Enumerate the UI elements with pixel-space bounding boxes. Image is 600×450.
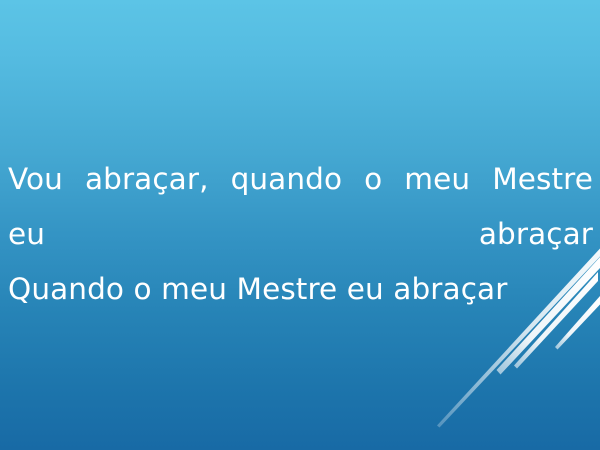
lyric-line-2: eu abraçar — [8, 207, 593, 262]
lyric-word: eu — [8, 207, 45, 262]
lyric-word: Vou — [8, 152, 63, 207]
lyric-word: abraçar, — [85, 152, 209, 207]
lyric-slide: Vou abraçar, quando o meu Mestre eu abra… — [0, 0, 600, 450]
lyric-word: Mestre — [492, 152, 593, 207]
lyric-word: quando — [231, 152, 343, 207]
lyric-word: abraçar — [479, 207, 593, 262]
lyric-word: o — [364, 152, 382, 207]
lyric-word: meu — [404, 152, 470, 207]
lyric-line-1: Vou abraçar, quando o meu Mestre — [8, 152, 593, 207]
lyrics-block: Vou abraçar, quando o meu Mestre eu abra… — [0, 152, 600, 317]
lyric-line-3: Quando o meu Mestre eu abraçar — [8, 262, 593, 317]
